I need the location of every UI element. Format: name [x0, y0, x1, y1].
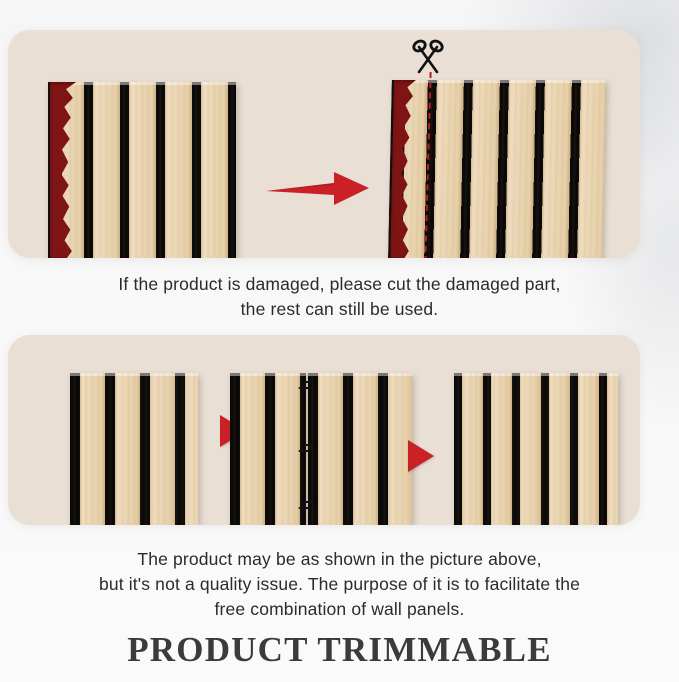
joined-panel-left-half — [230, 373, 306, 525]
panel-top-edge — [70, 373, 198, 376]
panel-top-edge — [392, 80, 606, 83]
trimming-caption-line-1: If the product is damaged, please cut th… — [0, 272, 679, 297]
combined-wide-panel — [454, 373, 618, 525]
infographic-page: If the product is damaged, please cut th… — [0, 0, 679, 682]
trimming-caption-line-2: the rest can still be used. — [0, 297, 679, 322]
red-triangle-arrow-icon — [408, 440, 434, 472]
trimming-caption: If the product is damaged, please cut th… — [0, 272, 679, 322]
single-narrow-panel — [70, 373, 198, 525]
long-right-arrow-icon — [266, 168, 369, 208]
damaged-slat-panel — [48, 82, 236, 258]
combination-caption-line-2: but it's not a quality issue. The purpos… — [0, 572, 679, 597]
combination-caption-line-1: The product may be as shown in the pictu… — [0, 547, 679, 572]
panel-top-edge — [48, 82, 236, 85]
left-right-arrow-icon — [296, 497, 316, 513]
joined-panel-right-half — [308, 373, 412, 525]
scissors-icon — [408, 36, 448, 76]
panel-top-edge — [308, 373, 412, 376]
trimming-demonstration-card — [8, 30, 640, 258]
combination-demonstration-card — [8, 335, 640, 525]
combination-caption: The product may be as shown in the pictu… — [0, 547, 679, 622]
left-right-arrow-icon — [296, 440, 316, 456]
panel-being-cut — [388, 80, 606, 258]
panel-top-edge — [230, 373, 306, 376]
panel-top-edge — [454, 373, 618, 376]
combination-caption-line-3: free combination of wall panels. — [0, 597, 679, 622]
left-right-arrow-icon — [296, 377, 316, 393]
page-headline: PRODUCT TRIMMABLE — [0, 630, 679, 670]
